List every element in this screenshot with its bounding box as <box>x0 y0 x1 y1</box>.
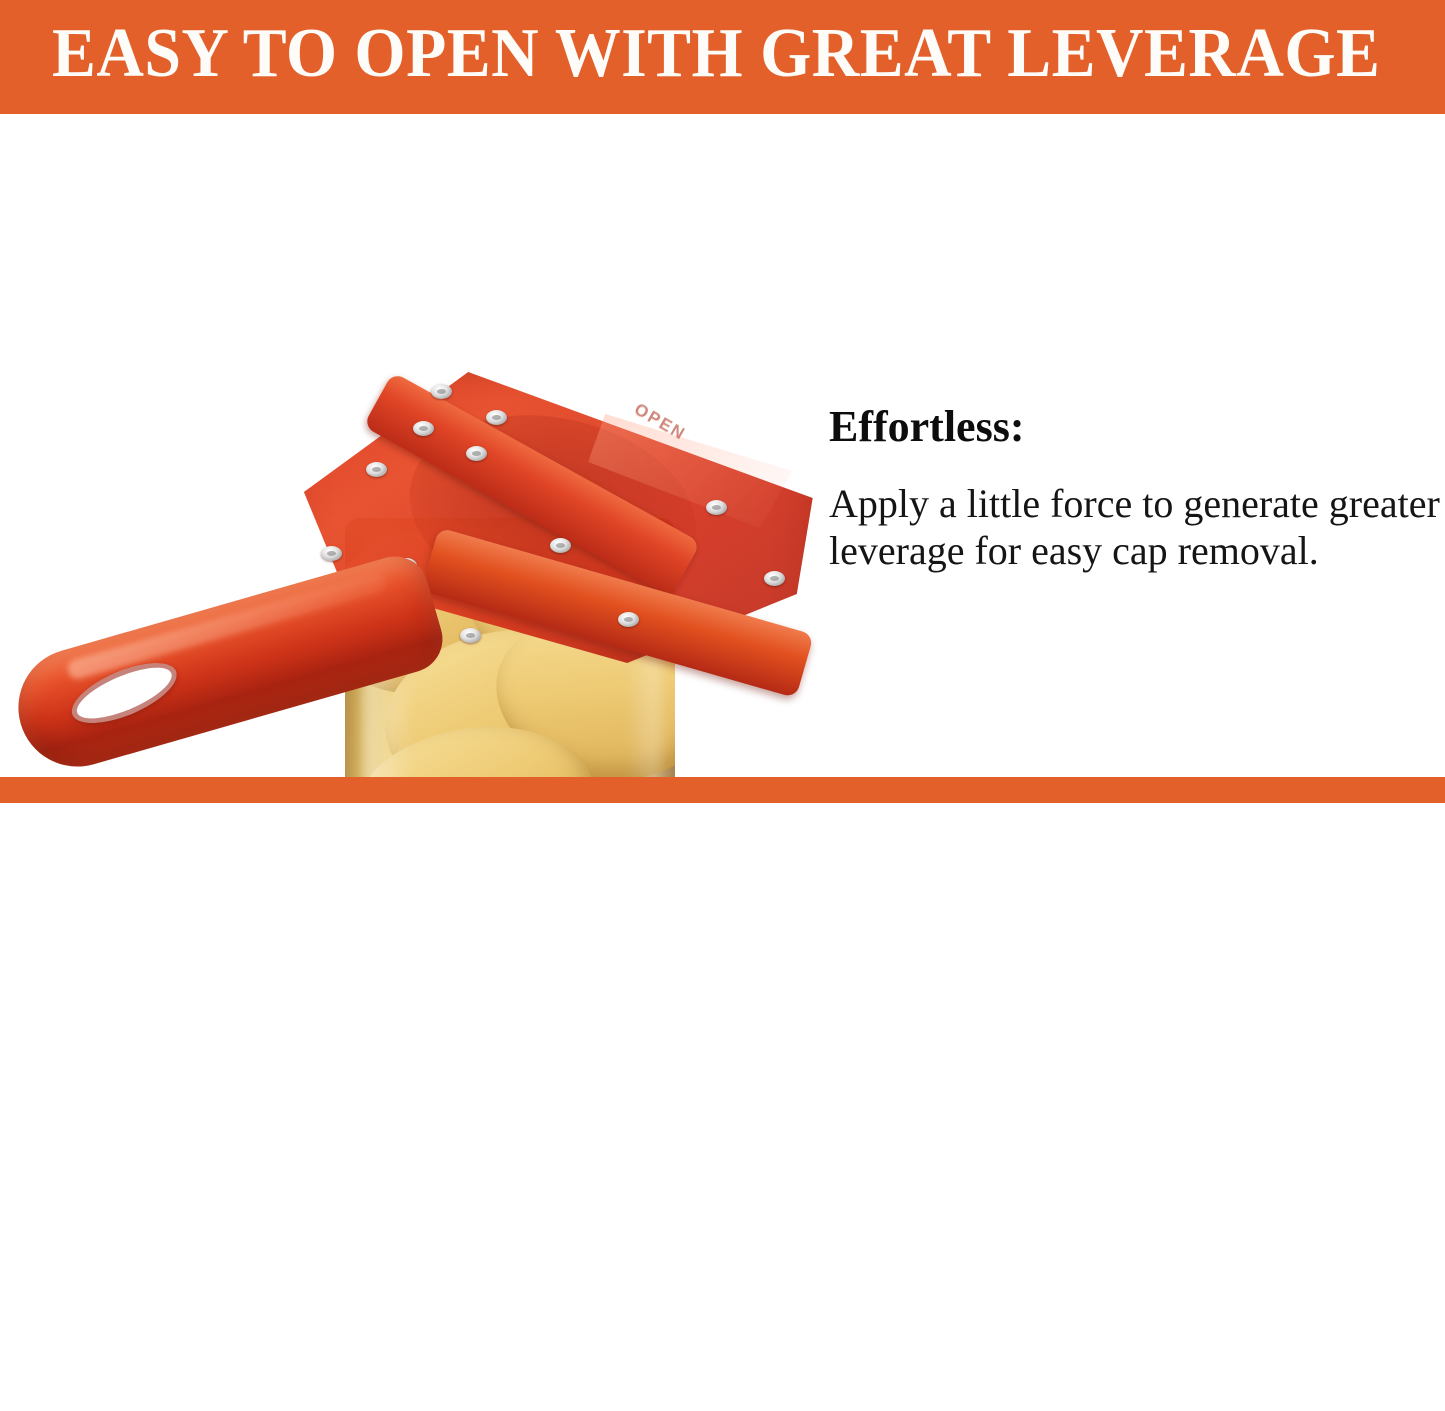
rivet <box>460 628 481 643</box>
rivet <box>431 384 452 399</box>
infographic-page: EASY TO OPEN WITH GREAT LEVERAGE L <box>0 0 1445 1411</box>
rivet <box>413 421 434 436</box>
feature-panel-no-slip: No–Slip Action: 2 Sharp 420J2 steel teet… <box>0 803 1445 1411</box>
rivet <box>764 571 785 586</box>
rivet <box>466 446 487 461</box>
feature-heading-effortless: Effortless: <box>829 402 1025 452</box>
feature-panel-effortless: LEVERAGE OPEN <box>0 114 1445 777</box>
rivet <box>321 546 342 561</box>
rivet <box>618 612 639 627</box>
rivet <box>486 410 507 425</box>
rivet <box>366 462 387 477</box>
header-banner: EASY TO OPEN WITH GREAT LEVERAGE <box>0 0 1445 114</box>
section-divider <box>0 777 1445 803</box>
feature-body-effortless: Apply a little force to generate greater… <box>829 480 1445 574</box>
rivet <box>550 538 571 553</box>
page-title: EASY TO OPEN WITH GREAT LEVERAGE <box>52 12 1321 96</box>
product-photo-opener-on-jar: LEVERAGE OPEN <box>0 228 820 777</box>
rivet <box>706 500 727 515</box>
